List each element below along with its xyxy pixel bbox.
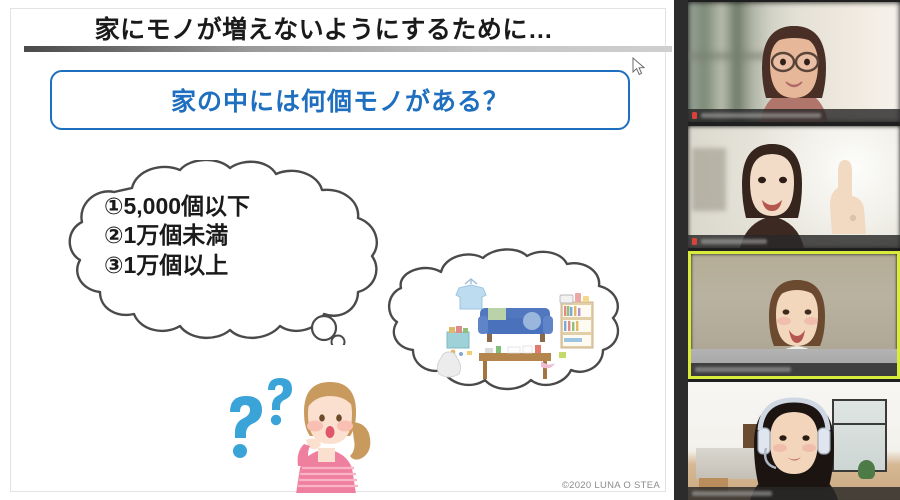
cluttered-room-thought-bubble (383, 248, 631, 408)
copyright-notice: ©2020 LUNA O STEA (470, 480, 660, 491)
participant-tile-1[interactable] (688, 2, 900, 122)
question-mark-icon-large (230, 396, 262, 458)
participant-tile-3[interactable] (688, 251, 900, 379)
slide-title: 家にモノが増えないようにするために… (24, 10, 624, 46)
mic-muted-icon (692, 112, 697, 119)
participant-1-video-person (688, 2, 900, 122)
answer-choice-2: ②1万個未満 (104, 221, 354, 250)
participant-1-name-bar (688, 109, 900, 122)
raised-index-finger-icon (830, 160, 866, 234)
shared-slide-region: 家にモノが増えないようにするために… 家の中には何個モノがある？ ①5,000個… (0, 0, 674, 500)
participant-4-video-person (688, 382, 900, 500)
answer-choices-thought-bubble: ①5,000個以下 ②1万個未満 ③1万個以上 (62, 160, 392, 345)
answer-choice-3: ③1万個以上 (104, 251, 354, 280)
participant-tile-4[interactable] (688, 382, 900, 500)
participant-1-name-label (701, 113, 821, 118)
participant-4-name-bar (688, 487, 900, 500)
mouth-icon (326, 426, 335, 438)
arm-icon (298, 444, 310, 466)
answer-choices-list: ①5,000個以下 ②1万個未満 ③1万個以上 (104, 192, 354, 280)
answer-choice-1: ①5,000個以下 (104, 192, 354, 221)
bookshelf-icon (560, 293, 593, 348)
participant-2-name-label (701, 239, 767, 244)
cheek-right-icon (337, 421, 353, 432)
eye-right-icon (336, 414, 342, 421)
question-mark-icon-small (268, 378, 292, 425)
question-box-text: 家の中には何個モノがある？ (171, 82, 509, 118)
title-divider (24, 46, 672, 52)
participant-4-name-label (692, 491, 772, 496)
participant-video-strip (688, 0, 900, 500)
participant-2-video-person (688, 126, 900, 248)
thinking-woman-illustration (218, 368, 388, 493)
question-box: 家の中には何個モノがある？ (50, 70, 630, 130)
mic-muted-icon (692, 238, 697, 245)
cheek-left-icon (307, 421, 323, 432)
eye-left-icon (319, 414, 325, 421)
participant-3-name-label (695, 367, 791, 372)
screen-share-gutter (674, 0, 688, 500)
participant-tile-2[interactable] (688, 126, 900, 248)
room-bubble-outline-icon (383, 248, 631, 408)
participant-3-name-bar (691, 363, 897, 376)
participant-2-name-bar (688, 235, 900, 248)
mouse-pointer (632, 57, 646, 77)
screen-share-meeting-view: 家にモノが増えないようにするために… 家の中には何個モノがある？ ①5,000個… (0, 0, 900, 500)
